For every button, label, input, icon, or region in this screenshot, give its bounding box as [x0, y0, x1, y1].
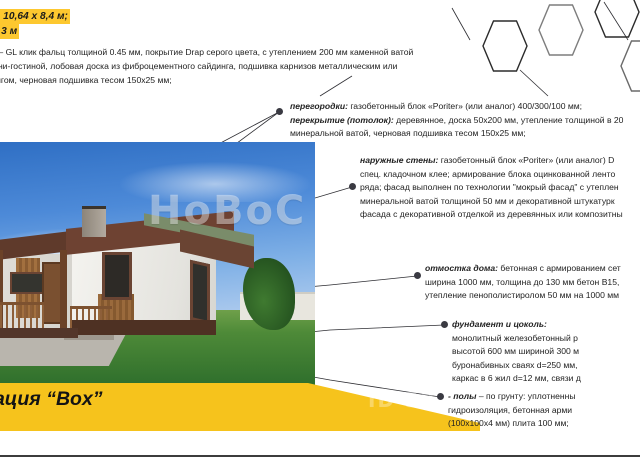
- callout-line: минеральной ватой толщиной 50 мм и декор…: [360, 195, 623, 209]
- callout-partitions: перегородки: газобетонный блок «Poriter»…: [290, 100, 623, 141]
- callout-line: утепление пенополистиролом 50 мм на 1000…: [425, 289, 621, 303]
- hexagon-icon: [620, 40, 640, 92]
- callout-line: минеральной ватой, черновая подшивка тес…: [290, 127, 623, 141]
- house-render-photo: [0, 142, 315, 385]
- cloud-shape: [120, 162, 310, 202]
- callout-line: высотой 600 мм шириной 300 м: [452, 345, 581, 359]
- window-small: [10, 272, 44, 294]
- roof-line-3: ым сайдингом, черновая подшивка тесом 15…: [0, 73, 578, 87]
- callout-line: наружные стены: газобетонный блок «Porit…: [360, 154, 623, 168]
- callout-foundation: фундамент и цоколь: монолитный железобет…: [452, 318, 581, 386]
- porch-post: [60, 250, 67, 336]
- porch-railing: [0, 302, 44, 331]
- callout-line: фундамент и цоколь:: [452, 318, 581, 332]
- roof-line-1: ускатная) – GL клик фальц толщиной 0.45 …: [0, 45, 578, 59]
- leader-dot: [276, 108, 283, 115]
- plinth-base: [0, 328, 78, 338]
- callout-apron: отмостка дома: бетонная с армированием с…: [425, 262, 621, 303]
- callout-floors: - полы – по грунту: уплотненны гидроизол…: [448, 390, 576, 431]
- hexagon-icon: [594, 0, 640, 38]
- callout-line: перегородки: газобетонный блок «Poriter»…: [290, 100, 623, 114]
- callout-line: (100x100x4 мм) плита 100 мм;: [448, 417, 576, 431]
- spec-line-ceiling: потолка: 3 м: [0, 24, 19, 39]
- callout-line: ряда; фасад выполнен по технологии "мокр…: [360, 181, 623, 195]
- roof-specification-paragraph: ускатная) – GL клик фальц толщиной 0.45 …: [0, 45, 578, 88]
- leader-dot: [441, 321, 448, 328]
- callout-line: - полы – по грунту: уплотненны: [448, 390, 576, 404]
- callout-line: гидроизоляция, бетонная арми: [448, 404, 576, 418]
- slide-canvas: ы здания: 10,64 x 8,4 м; потолка: 3 м ус…: [0, 0, 640, 457]
- window-side: [190, 260, 210, 325]
- callout-line: отмостка дома: бетонная с армированием с…: [425, 262, 621, 276]
- callout-line: фасада с декоративной отделкой из деревя…: [360, 208, 623, 222]
- roof-line-2: в зоне кухни-гостиной, лобовая доска из …: [0, 59, 578, 73]
- callout-line: спец. кладочном клее; армирование блока …: [360, 168, 623, 182]
- building-specs-highlight: ы здания: 10,64 x 8,4 м; потолка: 3 м: [0, 9, 163, 39]
- banner-title-text: лектация “Box”: [0, 388, 103, 411]
- banner-watermark-brand: СТРОЙ: [352, 358, 467, 388]
- callout-line: перекрытие (потолок): деревянное, доска …: [290, 114, 623, 128]
- window-tall: [102, 252, 132, 300]
- callout-outer-walls: наружные стены: газобетонный блок «Porit…: [360, 154, 623, 222]
- house-building: [0, 202, 262, 332]
- callout-line: монолитный железобетонный р: [452, 332, 581, 346]
- chimney: [82, 206, 106, 237]
- leader-dot: [437, 393, 444, 400]
- plinth-base: [72, 320, 216, 335]
- callout-line: буронабивных сваях d=250 мм,: [452, 359, 581, 373]
- callout-line: ширина 1000 мм, толщина до 130 мм бетон …: [425, 276, 621, 290]
- spec-line-dimensions: ы здания: 10,64 x 8,4 м;: [0, 9, 70, 24]
- leader-dot: [414, 272, 421, 279]
- leader-dot: [349, 183, 356, 190]
- callout-line: каркас в 6 жил d=12 мм, связи д: [452, 372, 581, 386]
